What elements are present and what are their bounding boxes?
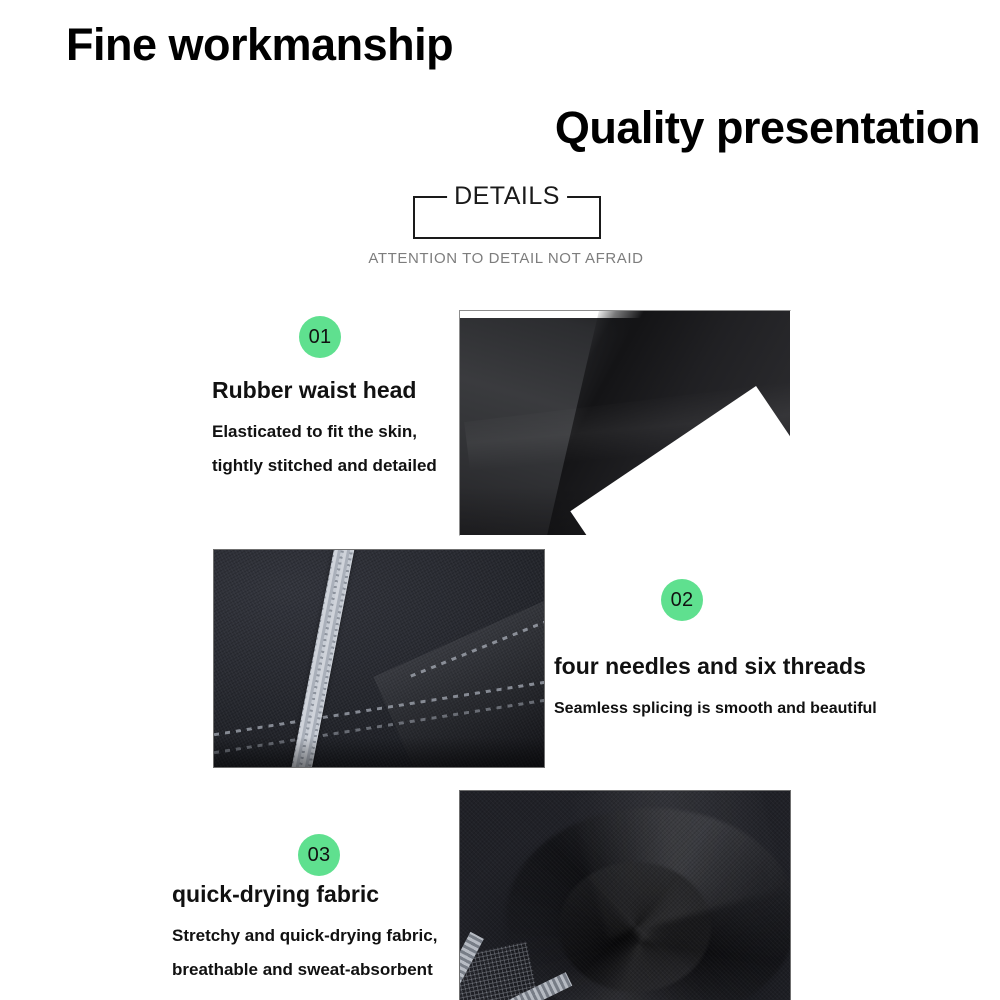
page-title-primary: Fine workmanship xyxy=(66,22,453,67)
seam-bottom-shadow xyxy=(214,737,544,767)
feature-desc-01: Elasticated to fit the skin, tightly sti… xyxy=(212,415,437,483)
feature-desc-line-02a: Seamless splicing is smooth and beautifu… xyxy=(554,692,877,726)
feature-number-badge-03: 03 xyxy=(298,834,340,876)
product-photo-seam xyxy=(213,549,545,768)
feature-desc-03: Stretchy and quick-drying fabric, breath… xyxy=(172,919,437,987)
feature-desc-line-01a: Elasticated to fit the skin, xyxy=(212,415,437,449)
feature-desc-line-03a: Stretchy and quick-drying fabric, xyxy=(172,919,437,953)
feature-desc-line-03b: breathable and sweat-absorbent xyxy=(172,953,437,987)
feature-number-badge-02: 02 xyxy=(661,579,703,621)
feature-title-02: four needles and six threads xyxy=(554,655,866,678)
feature-title-03: quick-drying fabric xyxy=(172,883,379,906)
details-badge-label: DETAILS xyxy=(447,183,567,209)
feature-number-badge-01: 01 xyxy=(299,316,341,358)
feature-title-01: Rubber waist head xyxy=(212,379,416,402)
feature-desc-02: Seamless splicing is smooth and beautifu… xyxy=(554,692,877,726)
details-subtitle: ATTENTION TO DETAIL NOT AFRAID xyxy=(0,250,1000,267)
details-badge: DETAILS xyxy=(413,196,601,239)
product-photo-waistband xyxy=(459,310,791,536)
feature-desc-line-01b: tightly stitched and detailed xyxy=(212,449,437,483)
page-title-secondary: Quality presentation xyxy=(555,105,980,150)
product-photo-fabric xyxy=(459,790,791,1000)
